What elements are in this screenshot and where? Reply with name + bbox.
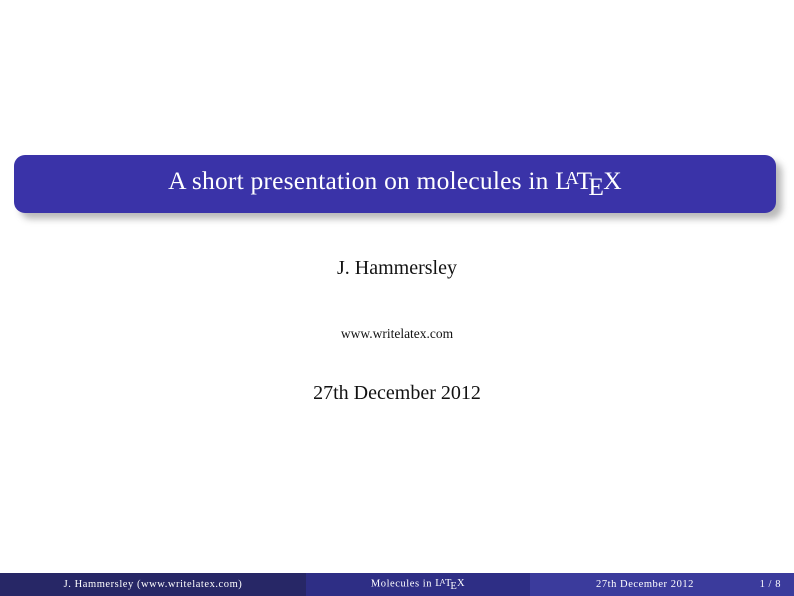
- footer-page-number: 1 / 8: [760, 573, 781, 596]
- title-block-container: A short presentation on molecules in LAT…: [14, 155, 776, 213]
- institute-url: www.writelatex.com: [0, 327, 794, 341]
- title-page-metadata: J. Hammersley www.writelatex.com 27th De…: [0, 258, 794, 403]
- footer-date-segment: 27th December 2012 1 / 8: [530, 573, 794, 596]
- presentation-date: 27th December 2012: [0, 383, 794, 403]
- latex-logo-x: X: [603, 166, 622, 195]
- author-name: J. Hammersley: [0, 258, 794, 278]
- footer-title-prefix: Molecules in: [371, 578, 435, 589]
- footer-title-text: Molecules in LATEX: [371, 577, 465, 592]
- presentation-slide: A short presentation on molecules in LAT…: [0, 0, 794, 596]
- footer-latex-logo-x: X: [457, 578, 465, 589]
- footer-author-segment: J. Hammersley (www.writelatex.com): [0, 573, 306, 596]
- footer-author-text: J. Hammersley (www.writelatex.com): [64, 579, 243, 590]
- latex-logo-e: E: [588, 174, 604, 200]
- slide-footer: J. Hammersley (www.writelatex.com) Molec…: [0, 573, 794, 596]
- page-title: A short presentation on molecules in LAT…: [168, 168, 622, 199]
- footer-title-segment: Molecules in LATEX: [306, 573, 530, 596]
- title-block: A short presentation on molecules in LAT…: [14, 155, 776, 213]
- latex-logo: LATEX: [555, 166, 622, 195]
- footer-date-text: 27th December 2012: [596, 579, 694, 590]
- footer-latex-logo: LATEX: [435, 578, 465, 589]
- title-text-prefix: A short presentation on molecules in: [168, 166, 555, 195]
